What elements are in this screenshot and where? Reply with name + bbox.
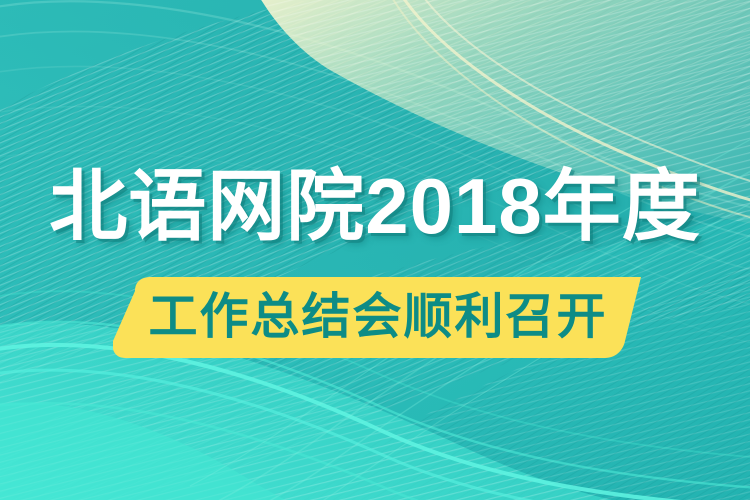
banner-subtitle: 工作总结会顺利召开 [113, 277, 643, 358]
headline-container: 北语网院2018年度 [0, 160, 750, 252]
banner-headline: 北语网院2018年度 [49, 160, 701, 252]
promo-banner: 北语网院2018年度 工作总结会顺利召开 [0, 0, 750, 500]
subtitle-banner: 工作总结会顺利召开 [113, 277, 643, 358]
